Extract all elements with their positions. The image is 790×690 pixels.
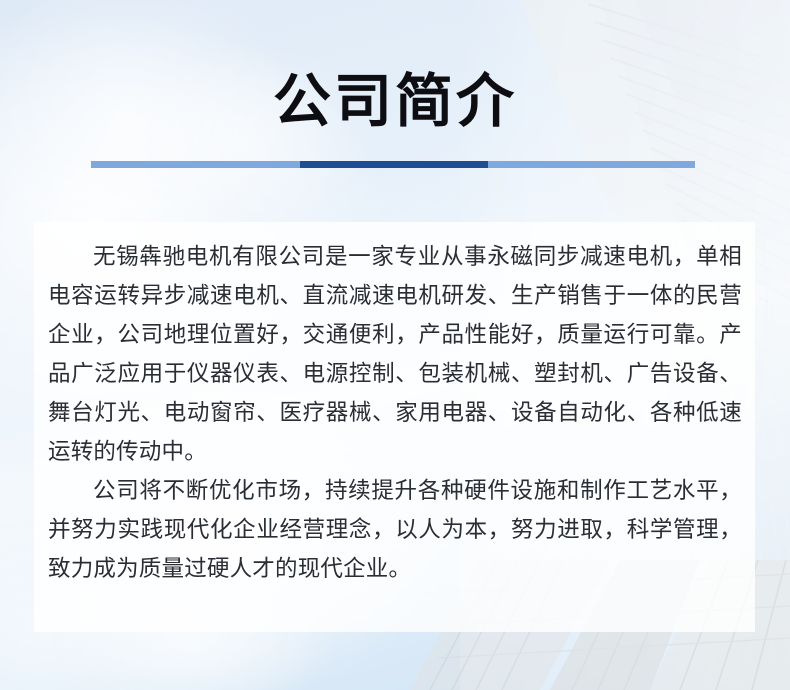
paragraph-2: 公司将不断优化市场，持续提升各种硬件设施和制作工艺水平，并努力实践现代化企业经营… bbox=[48, 472, 742, 589]
title-divider bbox=[91, 161, 695, 168]
page-title: 公司简介 bbox=[0, 66, 790, 136]
paragraph-1: 无锡犇驰电机有限公司是一家专业从事永磁同步减速电机，单相电容运转异步减速电机、直… bbox=[48, 238, 742, 472]
company-profile-page: 公司简介 无锡犇驰电机有限公司是一家专业从事永磁同步减速电机，单相电容运转异步减… bbox=[0, 0, 790, 690]
company-profile-text: 无锡犇驰电机有限公司是一家专业从事永磁同步减速电机，单相电容运转异步减速电机、直… bbox=[48, 238, 742, 589]
title-divider-accent bbox=[300, 161, 488, 168]
